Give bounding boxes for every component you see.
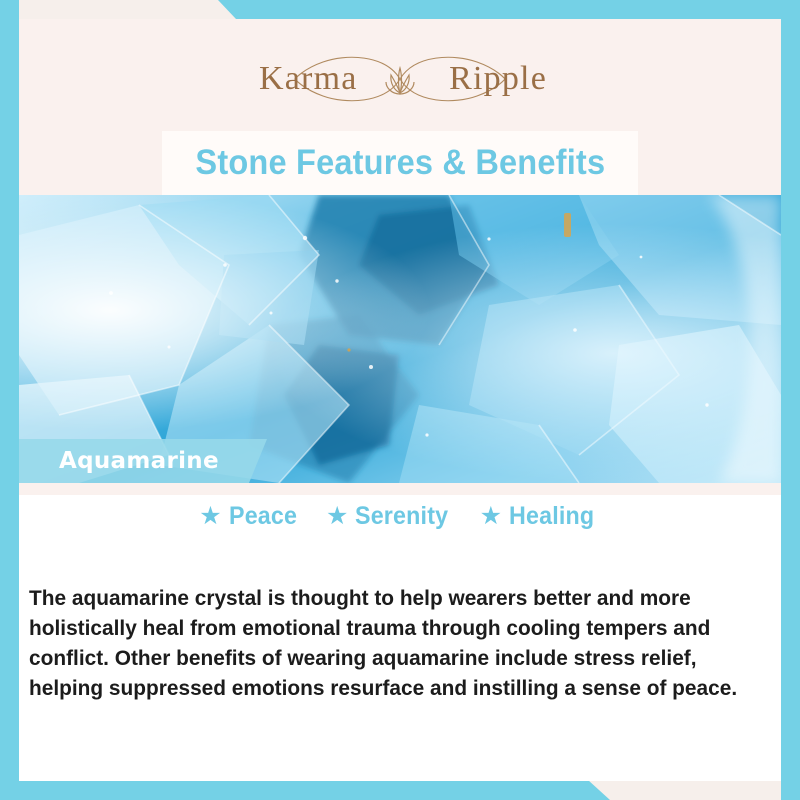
keyword-label: Healing [509,502,594,531]
decorative-bottom-accent-band [0,780,610,800]
stone-name-tag: Aquamarine [19,439,267,483]
star-icon: ★ [199,504,221,529]
keyword-list: ★ Peace ★ Serenity ★ Healing [19,495,781,537]
keyword-item-healing: ★ Healing [480,502,601,531]
stone-name-label: Aquamarine [59,448,219,474]
body-section: The aquamarine crystal is thought to hel… [19,537,781,781]
hero-image: Aquamarine [19,195,781,483]
decorative-right-accent-band [781,0,800,800]
decorative-top-accent-band [210,0,800,19]
keyword-item-peace: ★ Peace [199,502,302,531]
brand-logo: Karma Ripple [19,39,781,119]
decorative-left-accent-band [0,0,19,800]
title-banner-box: Stone Features & Benefits [162,131,638,195]
title-band: Stone Features & Benefits [19,131,781,195]
brand-name-left: Karma [259,60,358,98]
poster-root: Karma Ripple Stone Features & Benefits [0,0,800,800]
keyword-label: Serenity [355,502,448,531]
page-title: Stone Features & Benefits [195,143,605,183]
keyword-label: Peace [229,502,297,531]
page-content: Karma Ripple Stone Features & Benefits [19,19,781,781]
brand-name-right: Ripple [449,60,547,98]
star-icon: ★ [480,504,502,529]
star-icon: ★ [326,504,348,529]
body-paragraph: The aquamarine crystal is thought to hel… [29,583,751,703]
keyword-item-serenity: ★ Serenity [326,502,456,531]
